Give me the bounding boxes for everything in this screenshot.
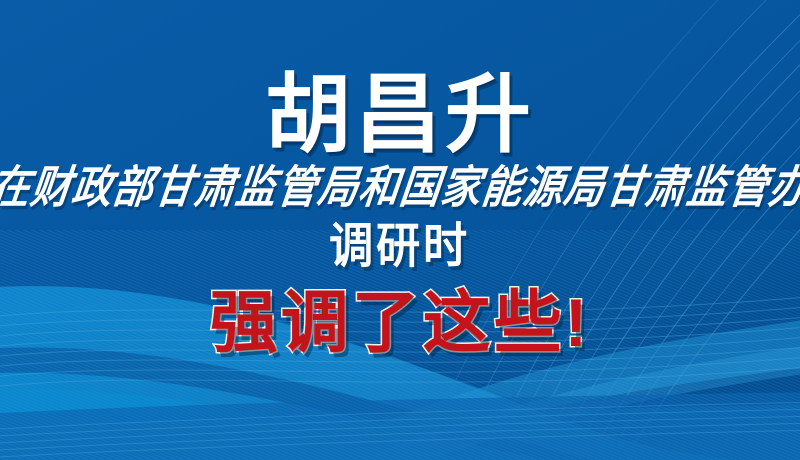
poster-occasion-line: 调研时 <box>330 222 471 272</box>
poster-highlight-line: 强调了这些! <box>210 288 591 359</box>
poster-canvas: 胡昌升 在财政部甘肃监管局和国家能源局甘肃监管办 调研时 强调了这些! <box>0 0 800 460</box>
poster-text-stack: 胡昌升 在财政部甘肃监管局和国家能源局甘肃监管办 调研时 强调了这些! <box>0 0 800 460</box>
poster-name-line: 胡昌升 <box>265 72 535 160</box>
poster-context-line: 在财政部甘肃监管局和国家能源局甘肃监管办 <box>0 163 800 212</box>
